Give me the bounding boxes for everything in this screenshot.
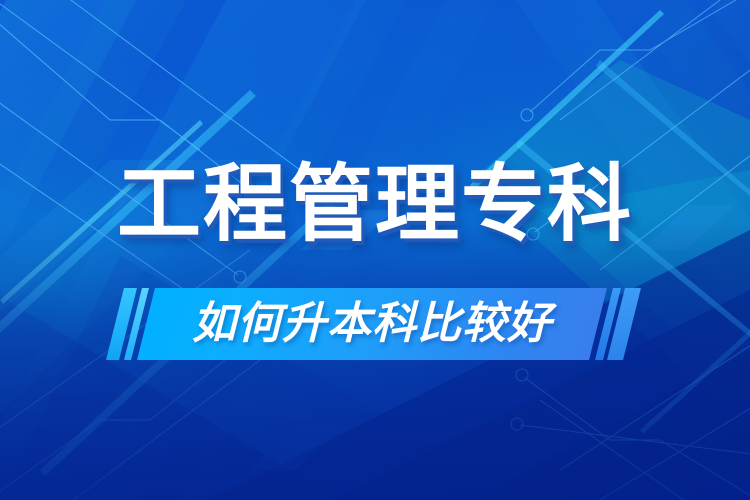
banner-subtitle: 如何升本科比较好 bbox=[192, 302, 552, 346]
background-lower-shade bbox=[0, 220, 750, 500]
banner-title: 工程管理专科 bbox=[117, 162, 633, 246]
title-container: 工程管理专科 bbox=[0, 162, 750, 246]
subtitle-text-wrap: 如何升本科比较好 bbox=[146, 288, 598, 360]
subtitle-bar: 如何升本科比较好 bbox=[137, 288, 607, 360]
promo-banner: 工程管理专科 如何升本科比较好 bbox=[0, 0, 750, 500]
subtitle-container: 如何升本科比较好 bbox=[0, 288, 750, 360]
